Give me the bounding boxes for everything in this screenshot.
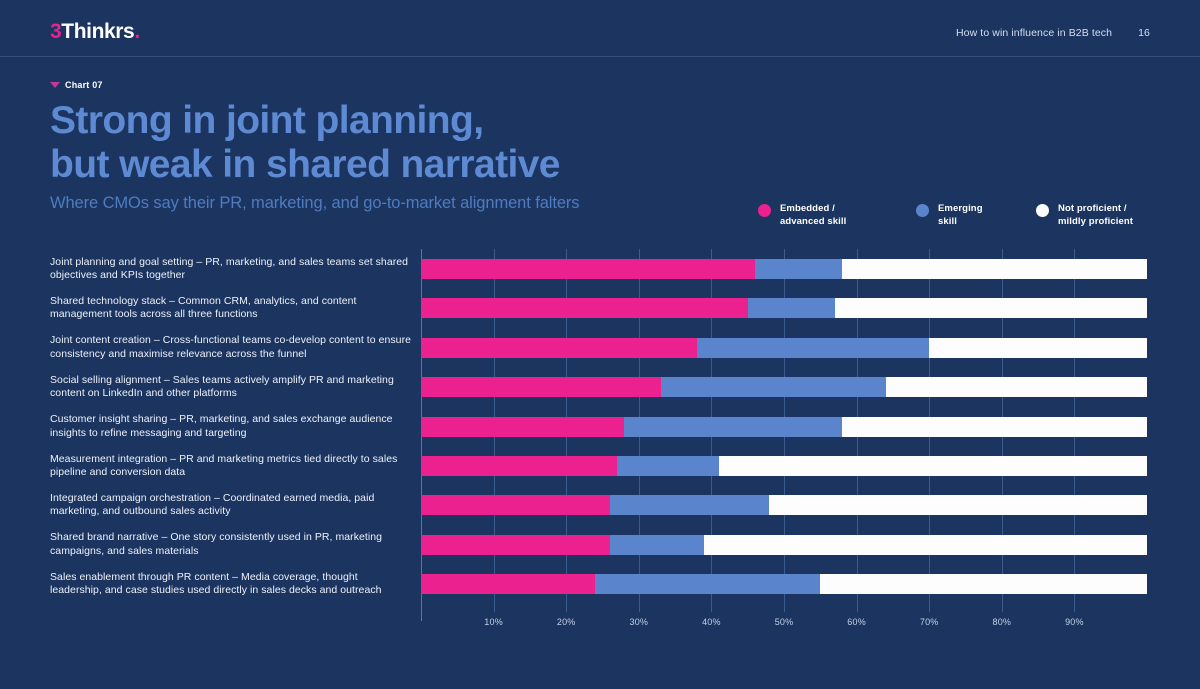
chart-x-tick-label: 40% (702, 617, 721, 627)
chart-bar-row[interactable] (421, 417, 1147, 437)
legend-label: Embedded / advanced skill (780, 203, 846, 228)
chart-bar-segment[interactable] (421, 417, 624, 437)
chart-category-label: Customer insight sharing – PR, marketing… (50, 413, 412, 440)
logo-dot: . (134, 20, 139, 43)
chart-gridline (784, 249, 785, 612)
header-meta: How to win influence in B2B tech 16 (956, 27, 1150, 39)
chart-bar-segment[interactable] (595, 574, 820, 594)
document-title: How to win influence in B2B tech (956, 27, 1112, 39)
legend-swatch-icon (1036, 204, 1049, 217)
chart-category-label: Integrated campaign orchestration – Coor… (50, 492, 412, 519)
legend-item-not-proficient[interactable]: Not proficient / mildly proficient (1036, 203, 1133, 228)
chart-bar-segment[interactable] (421, 377, 661, 397)
chart-bar-segment[interactable] (704, 535, 1147, 555)
legend-item-emerging[interactable]: Emerging skill (916, 203, 983, 228)
chart-bar-segment[interactable] (421, 338, 697, 358)
chart-bar-segment[interactable] (697, 338, 929, 358)
chart-x-tick-label: 10% (484, 617, 503, 627)
chart-bar-segment[interactable] (421, 574, 595, 594)
chart-bar-segment[interactable] (842, 417, 1147, 437)
chart-bar-segment[interactable] (661, 377, 886, 397)
chart-bar-segment[interactable] (421, 456, 617, 476)
chart-gridline (1074, 249, 1075, 612)
legend-swatch-icon (916, 204, 929, 217)
chart-y-axis (421, 249, 422, 621)
chart-x-tick-label: 30% (629, 617, 648, 627)
chart-bar-row[interactable] (421, 259, 1147, 279)
chart-gridline (639, 249, 640, 612)
chart-x-tick-label: 90% (1065, 617, 1084, 627)
page-number: 16 (1138, 27, 1150, 39)
chart-bar-row[interactable] (421, 574, 1147, 594)
chart-x-tick-label: 20% (557, 617, 576, 627)
header-divider (0, 56, 1200, 57)
chart-category-label: Joint planning and goal setting – PR, ma… (50, 256, 412, 283)
chart-eyebrow-label: Chart 07 (65, 80, 103, 90)
chart-x-tick-label: 60% (847, 617, 866, 627)
chart-bar-segment[interactable] (886, 377, 1147, 397)
chart-legend: Embedded / advanced skill Emerging skill… (758, 203, 1158, 237)
chart-category-label: Shared brand narrative – One story consi… (50, 531, 412, 558)
brand-logo[interactable]: 3Thinkrs. (50, 21, 140, 42)
chart-gridline (929, 249, 930, 612)
chart-bar-segment[interactable] (610, 535, 704, 555)
chart-gridline (1002, 249, 1003, 612)
logo-name: Thinkrs (61, 20, 134, 43)
chart-bar-segment[interactable] (624, 417, 842, 437)
page-title-line1: Strong in joint planning, (50, 99, 483, 142)
chart-gridline (711, 249, 712, 612)
chart-gridline (566, 249, 567, 612)
chart-bar-segment[interactable] (929, 338, 1147, 358)
logo-three: 3 (50, 20, 61, 43)
chart-bar-segment[interactable] (719, 456, 1147, 476)
chart-bar-row[interactable] (421, 495, 1147, 515)
chart-bar-row[interactable] (421, 535, 1147, 555)
chart-bar-segment[interactable] (610, 495, 770, 515)
chart-bar-segment[interactable] (421, 298, 748, 318)
chart-category-label: Measurement integration – PR and marketi… (50, 453, 412, 480)
chart-bar-row[interactable] (421, 377, 1147, 397)
chart-bar-segment[interactable] (842, 259, 1147, 279)
chart-x-tick-label: 70% (920, 617, 939, 627)
chart-category-label: Sales enablement through PR content – Me… (50, 571, 412, 598)
chart-bar-segment[interactable] (769, 495, 1147, 515)
chart-category-label: Social selling alignment – Sales teams a… (50, 374, 412, 401)
page-subtitle: Where CMOs say their PR, marketing, and … (50, 192, 750, 214)
legend-item-embedded[interactable]: Embedded / advanced skill (758, 203, 846, 228)
chart-bar-row[interactable] (421, 456, 1147, 476)
page-title-line2: but weak in shared narrative (50, 143, 810, 187)
triangle-down-icon (50, 82, 60, 88)
chart-bar-segment[interactable] (421, 495, 610, 515)
chart-bar-segment[interactable] (748, 298, 835, 318)
page-title: Strong in joint planning, but weak in sh… (50, 99, 810, 187)
chart-category-label: Shared technology stack – Common CRM, an… (50, 295, 412, 322)
chart-bar-segment[interactable] (820, 574, 1147, 594)
chart-bar-row[interactable] (421, 298, 1147, 318)
chart-bar-row[interactable] (421, 338, 1147, 358)
chart-eyebrow: Chart 07 (50, 80, 103, 90)
chart-x-tick-label: 80% (992, 617, 1011, 627)
chart-plot-area (421, 249, 1147, 612)
chart-bar-segment[interactable] (755, 259, 842, 279)
chart-gridline (494, 249, 495, 612)
page-header: 3Thinkrs. How to win influence in B2B te… (0, 0, 1200, 56)
chart-bar-segment[interactable] (421, 535, 610, 555)
legend-swatch-icon (758, 204, 771, 217)
chart-category-label: Joint content creation – Cross-functiona… (50, 334, 412, 361)
chart-x-tick-label: 50% (775, 617, 794, 627)
chart-bar-segment[interactable] (835, 298, 1147, 318)
legend-label: Emerging skill (938, 203, 983, 228)
chart-bar-segment[interactable] (421, 259, 755, 279)
chart-gridline (857, 249, 858, 612)
chart-bar-segment[interactable] (617, 456, 719, 476)
legend-label: Not proficient / mildly proficient (1058, 203, 1133, 228)
